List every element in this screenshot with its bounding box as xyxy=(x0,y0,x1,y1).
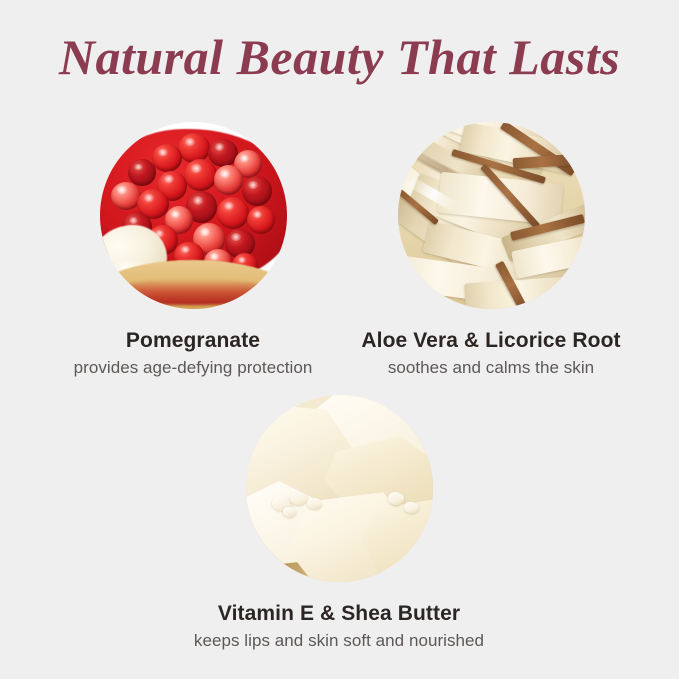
pomegranate-image xyxy=(100,122,287,309)
ingredient-card-vitamin-e-shea-butter: Vitamin E & Shea Butter keeps lips and s… xyxy=(164,395,514,652)
aril xyxy=(217,197,249,229)
ingredient-name: Vitamin E & Shea Butter xyxy=(164,602,514,626)
ingredient-benefit: soothes and calms the skin xyxy=(316,358,666,378)
ingredient-card-aloe-vera-licorice-root: Aloe Vera & Licorice Root soothes and ca… xyxy=(316,122,666,379)
page-title: Natural Beauty That Lasts xyxy=(0,28,679,86)
ingredient-name: Aloe Vera & Licorice Root xyxy=(316,329,666,353)
licorice-root-image xyxy=(398,122,585,309)
aril xyxy=(242,176,272,206)
shea-butter-photo-art xyxy=(246,395,433,582)
aril xyxy=(214,165,244,195)
ingredients-infographic: Natural Beauty That Lasts xyxy=(0,0,679,679)
ingredient-benefit: keeps lips and skin soft and nourished xyxy=(164,631,514,651)
shea-butter-image xyxy=(246,395,433,582)
butter-crumb xyxy=(283,507,296,516)
licorice-root-photo-art xyxy=(398,122,585,309)
butter-crumb xyxy=(404,502,419,513)
pomegranate-juice-edge xyxy=(103,279,283,305)
pomegranate-photo-art xyxy=(100,122,287,309)
aril xyxy=(128,159,156,185)
